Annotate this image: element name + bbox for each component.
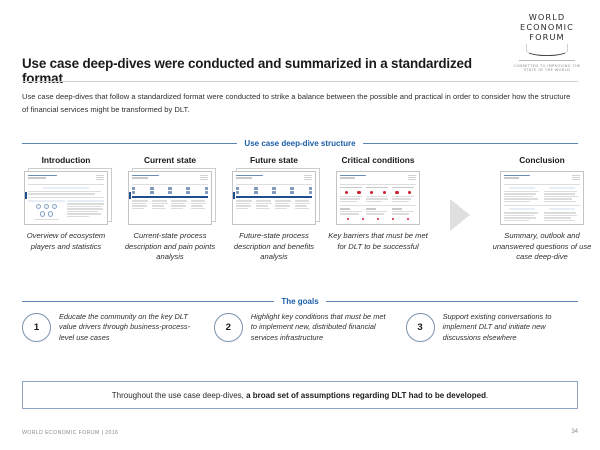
slide-thumbnail-conclusion[interactable]	[500, 171, 584, 225]
goals-list: 1 Educate the community on the key DLT v…	[22, 312, 582, 343]
thumbnail-front-sheet	[24, 171, 108, 225]
logo-line-forum: FORUM	[508, 32, 586, 42]
structure-section-header: Use case deep-dive structure	[22, 139, 578, 148]
goals-section-header: The goals	[22, 297, 578, 306]
goal-text: Educate the community on the key DLT val…	[59, 312, 198, 343]
goal-item-3: 3 Support existing conversations to impl…	[406, 312, 582, 343]
thumbnail-process-band	[236, 196, 312, 198]
thumbnail-title-lines	[236, 175, 268, 180]
section-rule-left	[22, 301, 274, 302]
thumbnail-body-columns	[28, 200, 104, 220]
wef-logo: WORLD ECONOMIC FORUM COMMITTED TO IMPROV…	[508, 12, 586, 73]
thumbnail-front-sheet	[500, 171, 584, 225]
thumbnail-red-dot-indicators	[340, 191, 416, 194]
logo-line-economic: ECONOMIC	[508, 22, 586, 32]
slide-thumbnail-introduction[interactable]	[24, 171, 108, 225]
structure-column-critical-conditions: Critical conditions	[326, 155, 430, 252]
thumbnail-logo-mark	[96, 175, 104, 182]
thumbnail-titlebar	[504, 175, 580, 182]
thumbnail-process-icons-row2	[132, 191, 208, 194]
goal-item-1: 1 Educate the community on the key DLT v…	[22, 312, 198, 343]
section-rule-right	[363, 143, 578, 144]
logo-divider	[519, 60, 575, 61]
thumbnail-body-columns-lower	[340, 208, 416, 215]
thumbnail-body-columns	[504, 187, 580, 204]
logo-tagline: COMMITTED TO IMPROVING THE STATE OF THE …	[508, 64, 586, 73]
column-header: Conclusion	[490, 155, 594, 165]
thumbnail-logo-mark	[200, 175, 208, 182]
thumbnail-title-lines	[132, 175, 164, 180]
thumbnail-logo-mark	[572, 175, 580, 182]
column-header: Future state	[222, 155, 326, 165]
thumbnail-process-icons	[132, 187, 208, 190]
thumbnail-title-lines	[28, 175, 60, 180]
assumptions-banner: Throughout the use case deep-dives, a br…	[22, 381, 578, 409]
structure-columns: Introduction	[14, 155, 586, 275]
assumptions-banner-text: Throughout the use case deep-dives, a br…	[112, 391, 488, 400]
thumbnail-title-lines	[504, 175, 536, 180]
thumbnail-body-columns	[236, 200, 312, 210]
goal-number-badge: 3	[406, 313, 435, 342]
thumbnail-logo-mark	[408, 175, 416, 182]
section-rule-right	[326, 301, 578, 302]
slide-thumbnail-critical-conditions[interactable]	[336, 171, 420, 225]
goal-number-badge: 1	[22, 313, 51, 342]
thumbnail-titlebar	[28, 175, 104, 182]
structure-column-introduction: Introduction	[14, 155, 118, 252]
thumbnail-body-columns-lower	[504, 208, 580, 222]
column-header: Current state	[118, 155, 222, 165]
thumbnail-front-sheet	[336, 171, 420, 225]
thumbnail-front-sheet	[128, 171, 212, 225]
goals-section-label: The goals	[281, 297, 318, 306]
thumbnail-body-columns	[132, 200, 208, 210]
page-number: 34	[571, 429, 578, 435]
footer-source: WORLD ECONOMIC FORUM | 2016	[22, 430, 118, 436]
thumbnail-process-band	[132, 196, 208, 198]
title-divider	[22, 81, 578, 82]
logo-line-world: WORLD	[508, 12, 586, 22]
thumbnail-logo-mark	[304, 175, 312, 182]
flow-arrow	[430, 155, 490, 275]
banner-suffix: .	[486, 391, 488, 400]
column-caption: Current-state process description and pa…	[118, 231, 222, 263]
thumbnail-side-tab	[233, 192, 235, 199]
slide-thumbnail-future-state[interactable]	[232, 171, 316, 225]
column-caption: Overview of ecosystem players and statis…	[14, 231, 118, 252]
thumbnail-titlebar	[340, 175, 416, 182]
thumbnail-side-tab	[129, 192, 131, 199]
column-header: Critical conditions	[326, 155, 430, 165]
goal-item-2: 2 Highlight key conditions that must be …	[214, 312, 390, 343]
column-caption: Future-state process description and ben…	[222, 231, 326, 263]
banner-bold: a broad set of assumptions regarding DLT…	[246, 391, 486, 400]
arrow-right-icon	[450, 199, 470, 231]
thumbnail-titlebar	[132, 175, 208, 182]
structure-column-conclusion: Conclusion	[490, 155, 594, 263]
thumbnail-footer-dots	[340, 218, 416, 220]
structure-column-future-state: Future state	[222, 155, 326, 263]
logo-swoosh-icon	[526, 44, 568, 56]
thumbnail-title-lines	[340, 175, 372, 180]
section-rule-left	[22, 143, 237, 144]
column-caption: Key barriers that must be met for DLT to…	[326, 231, 430, 252]
thumbnail-network-diagram-row2	[28, 211, 65, 216]
thumbnail-condition-headers	[340, 187, 416, 189]
thumbnail-body-columns	[340, 196, 416, 203]
structure-column-current-state: Current state	[118, 155, 222, 263]
thumbnail-titlebar	[236, 175, 312, 182]
column-header: Introduction	[14, 155, 118, 165]
thumbnail-process-icons-row2	[236, 191, 312, 194]
thumbnail-network-diagram	[28, 204, 65, 209]
goal-text: Highlight key conditions that must be me…	[251, 312, 390, 343]
banner-prefix: Throughout the use case deep-dives,	[112, 391, 246, 400]
thumbnail-front-sheet	[232, 171, 316, 225]
goal-text: Support existing conversations to implem…	[443, 312, 582, 343]
intro-paragraph: Use case deep-dives that follow a standa…	[22, 91, 576, 116]
column-caption: Summary, outlook and unanswered question…	[490, 231, 594, 263]
thumbnail-side-tab	[25, 192, 27, 199]
structure-section-label: Use case deep-dive structure	[244, 139, 355, 148]
goal-number-badge: 2	[214, 313, 243, 342]
thumbnail-process-icons	[236, 187, 312, 190]
slide-thumbnail-current-state[interactable]	[128, 171, 212, 225]
